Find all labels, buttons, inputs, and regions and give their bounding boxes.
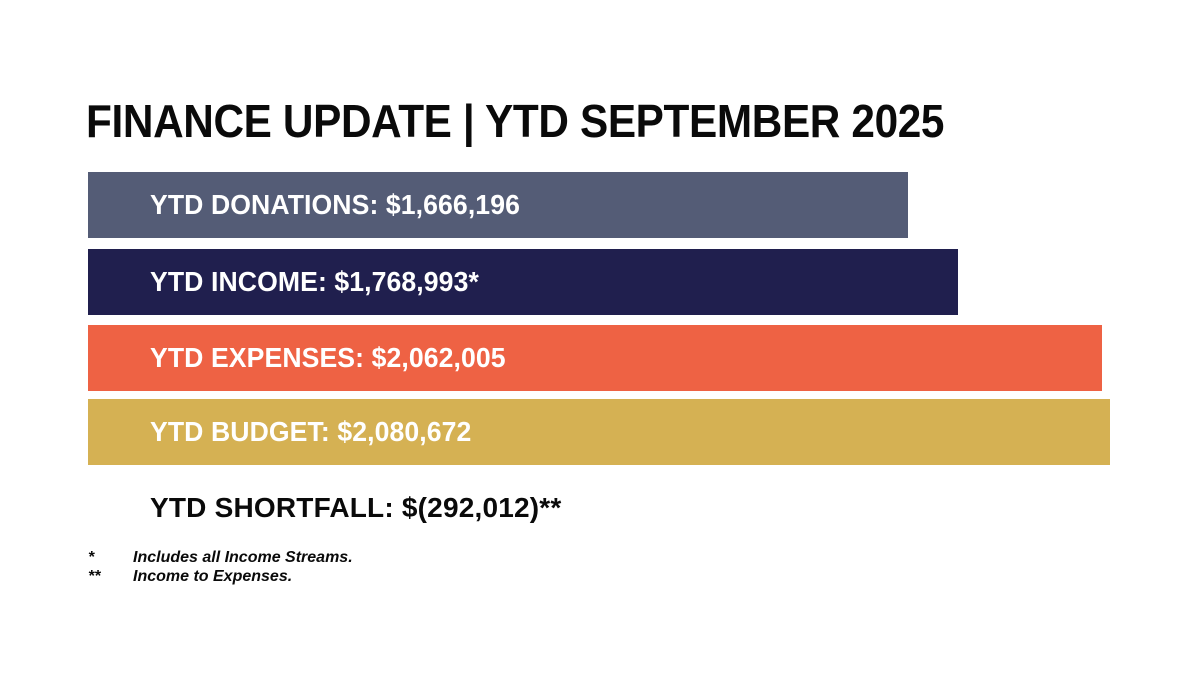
footnote-row: * Includes all Income Streams. (88, 548, 688, 567)
footnote-row: ** Income to Expenses. (88, 567, 688, 586)
bar-label-donations: YTD DONATIONS: $1,666,196 (150, 172, 520, 238)
finance-update-infographic: FINANCE UPDATE | YTD SEPTEMBER 2025 YTD … (0, 0, 1200, 675)
bar-label-budget: YTD BUDGET: $2,080,672 (150, 399, 471, 465)
footnotes: * Includes all Income Streams. ** Income… (88, 548, 688, 586)
bar-row-donations: YTD DONATIONS: $1,666,196 (88, 172, 908, 238)
footnote-marker: ** (88, 567, 133, 586)
bar-row-income: YTD INCOME: $1,768,993* (88, 249, 958, 315)
footnote-marker: * (88, 548, 133, 567)
footnote-text: Income to Expenses. (133, 567, 292, 586)
bar-label-expenses: YTD EXPENSES: $2,062,005 (150, 325, 506, 391)
bar-row-expenses: YTD EXPENSES: $2,062,005 (88, 325, 1102, 391)
footnote-text: Includes all Income Streams. (133, 548, 353, 567)
shortfall-summary: YTD SHORTFALL: $(292,012)** (150, 489, 562, 527)
bar-label-income: YTD INCOME: $1,768,993* (150, 249, 479, 315)
bar-row-budget: YTD BUDGET: $2,080,672 (88, 399, 1110, 465)
